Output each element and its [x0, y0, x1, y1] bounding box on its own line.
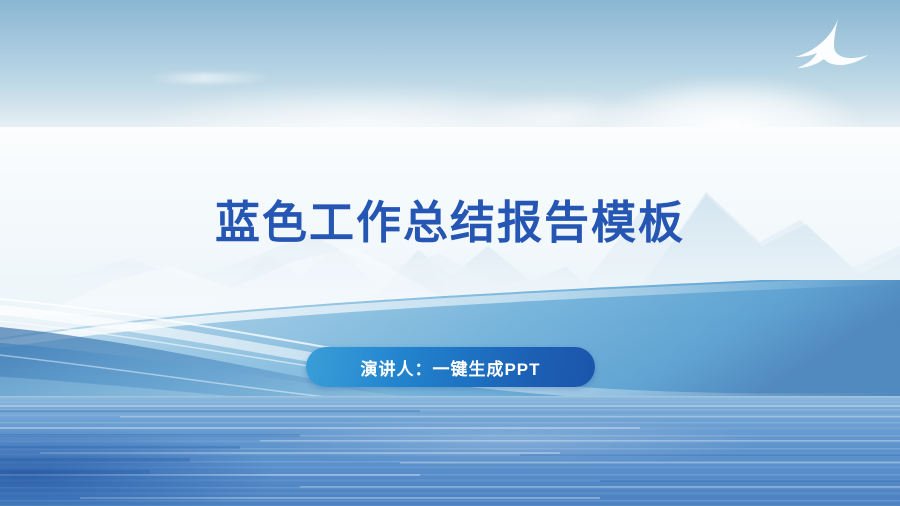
presenter-button[interactable]: 演讲人：一键生成PPT [306, 347, 595, 387]
water-surface [0, 396, 900, 506]
water-dark-corner [0, 426, 270, 506]
water-sheen [250, 418, 770, 464]
seagull-icon [793, 16, 871, 78]
cloud-wisp [150, 73, 270, 83]
page-title: 蓝色工作总结报告模板 [0, 196, 900, 250]
presenter-label: 演讲人：一键生成PPT [360, 355, 540, 380]
presentation-slide: 蓝色工作总结报告模板 演讲人：一键生成PPT [0, 0, 900, 506]
